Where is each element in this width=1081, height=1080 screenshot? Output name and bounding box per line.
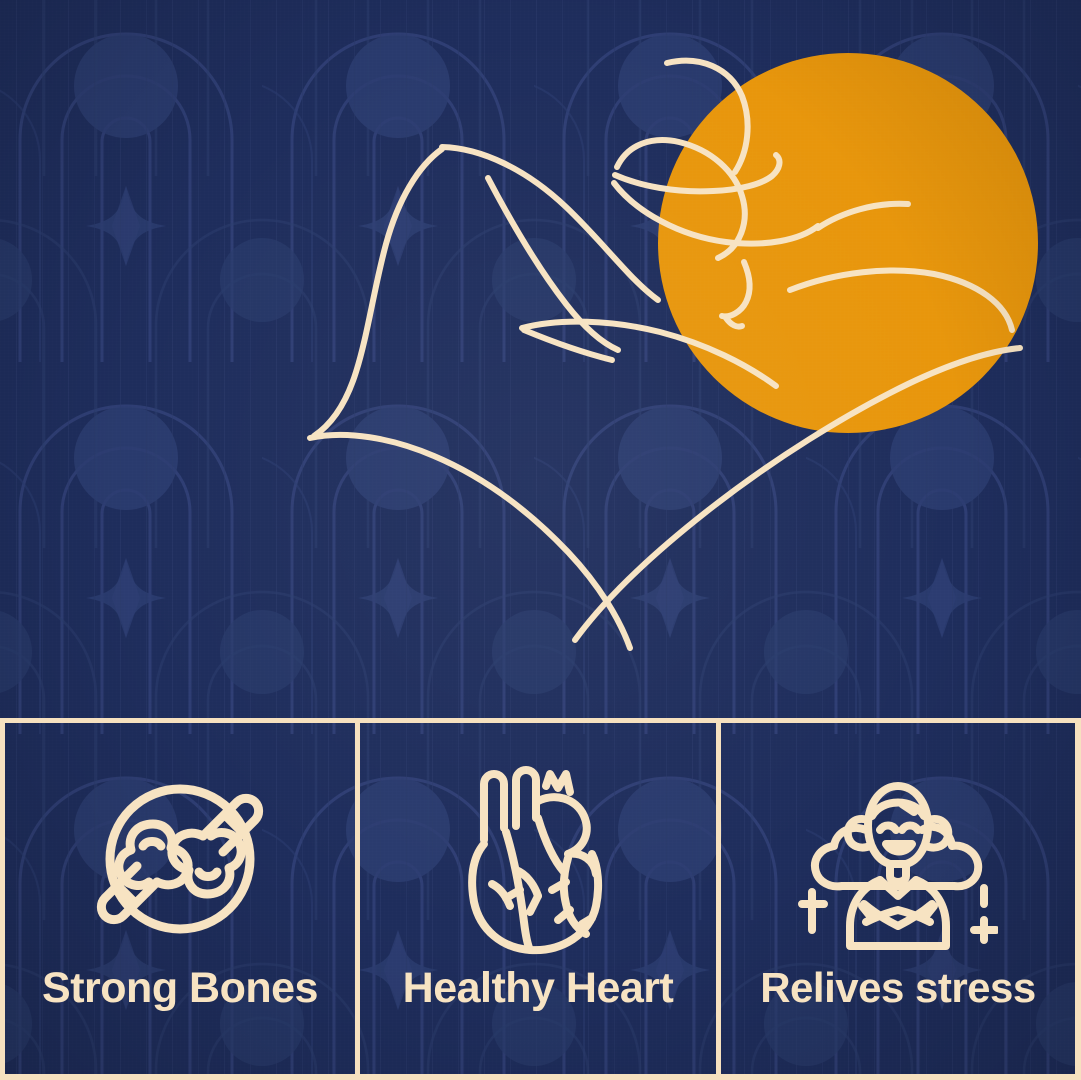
product-benefits-graphic: Strong Bones [0,0,1081,1080]
feature-label: Healthy Heart [403,967,674,1010]
plus-sign-left [802,892,824,930]
plus-sign-right [974,888,996,940]
feature-strip: Strong Bones [0,718,1081,1080]
hero-illustration [0,0,1081,722]
frame-right-border [1075,718,1081,1080]
feature-cell-healthy-heart: Healthy Heart [360,723,716,1080]
feature-cell-strong-bones: Strong Bones [5,723,355,1080]
anatomical-heart-icon [458,755,618,963]
feature-cell-relives-stress: Relives stress [721,723,1075,1080]
feature-label: Strong Bones [42,967,318,1010]
feature-label: Relives stress [760,967,1036,1009]
relaxed-person-with-clouds-icon [798,755,998,963]
bone-joint-in-circle-icon [85,755,275,963]
